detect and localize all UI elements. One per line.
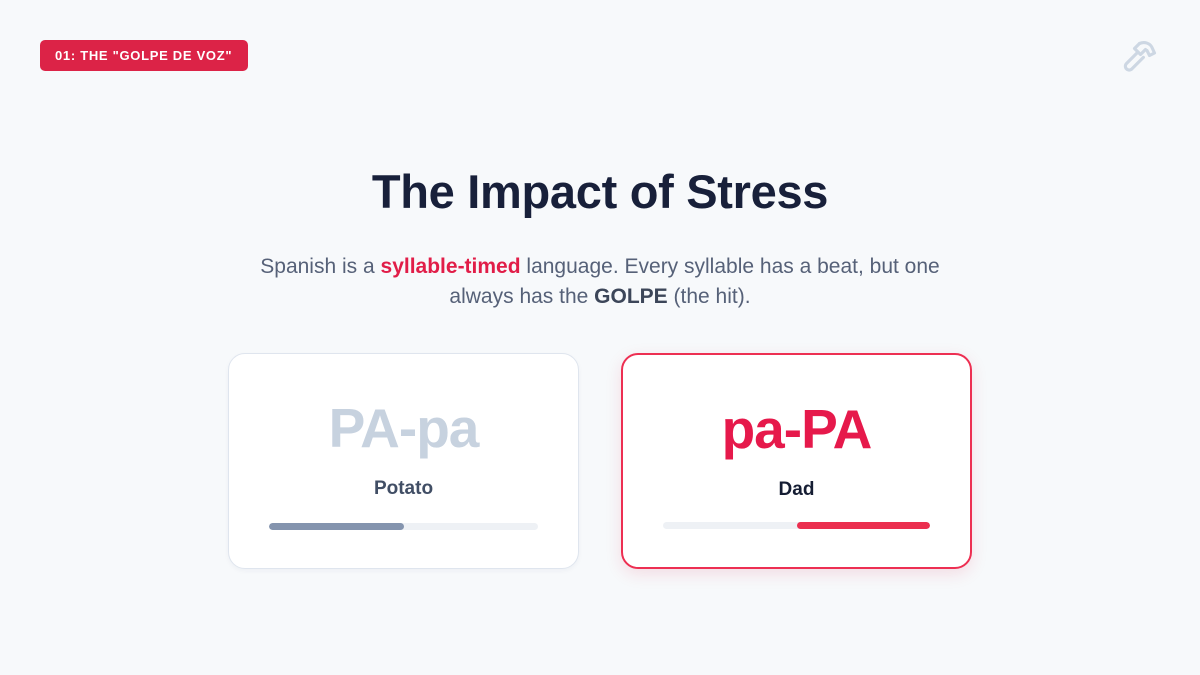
card-papa-dad[interactable]: pa-PA Dad [621,353,972,569]
syllable-pattern: pa-PA [722,402,872,457]
slide-content: The Impact of Stress Spanish is a syllab… [0,0,1200,675]
card-papa-potato[interactable]: PA-pa Potato [228,353,579,569]
beat-bar-fill [269,523,404,530]
beat-bar-track [663,522,930,529]
syllable-pattern: PA-pa [329,401,479,456]
subtitle-text-2: language. Every syllable has a [521,255,812,278]
example-cards: PA-pa Potato pa-PA Dad [228,353,972,569]
slide-subtitle: Spanish is a syllable-timed language. Ev… [240,252,960,313]
subtitle-strong-term: GOLPE [594,285,668,308]
word-translation: Dad [779,480,815,499]
subtitle-text-1: Spanish is a [260,255,380,278]
beat-bar-track [269,523,538,530]
subtitle-accent-term: syllable-timed [381,255,521,278]
beat-bar-fill [797,522,931,529]
page-title: The Impact of Stress [372,166,828,218]
subtitle-text-4: (the hit). [668,285,751,308]
word-translation: Potato [374,479,433,498]
